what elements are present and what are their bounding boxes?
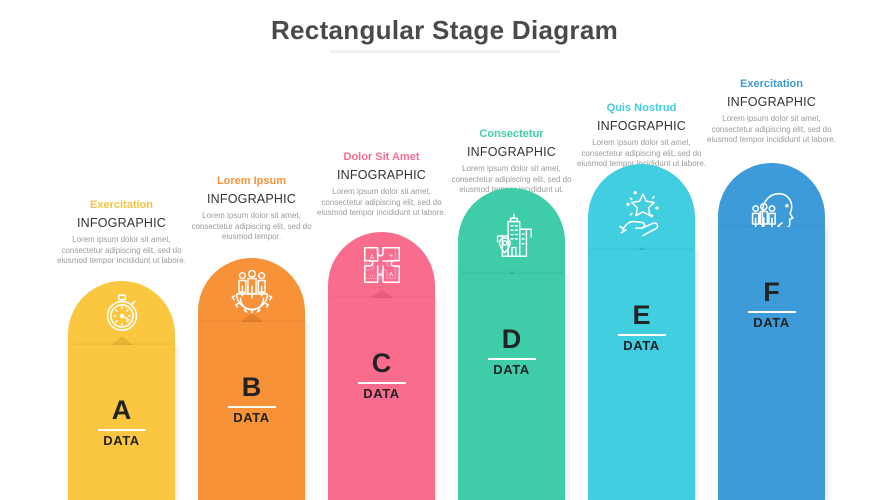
stage-kicker-b: Lorem Ipsum <box>177 174 326 189</box>
svg-text:A: A <box>369 254 374 261</box>
stage-panel-e[interactable]: EDATA <box>588 250 695 500</box>
stage-kicker-d: Consectetur <box>437 127 586 142</box>
stage-panel-f[interactable]: FDATA <box>718 227 825 500</box>
stage-text-block-f: ExercitationINFOGRAPHICLorem ipsum dolor… <box>697 77 846 146</box>
stage-text-block-c: Dolor Sit AmetINFOGRAPHICLorem ipsum dol… <box>307 150 456 219</box>
stage-letter-c: C <box>328 348 435 378</box>
svg-text:+: + <box>388 251 393 260</box>
stage-capsule-notch-c <box>371 289 393 298</box>
stage-letter-d: D <box>458 324 565 354</box>
stage-column-a: ExercitationINFOGRAPHICLorem ipsum dolor… <box>68 0 175 500</box>
stage-text-block-a: ExercitationINFOGRAPHICLorem ipsum dolor… <box>47 198 196 267</box>
stage-body-f: Lorem ipsum dolor sit amet, consectetur … <box>697 114 846 146</box>
svg-text:...: ... <box>369 271 375 278</box>
stage-letter-a: A <box>68 395 175 425</box>
stage-panel-a[interactable]: ADATA <box>68 345 175 500</box>
stage-kicker-a: Exercitation <box>47 198 196 213</box>
stopwatch-icon <box>68 290 175 336</box>
stage-data-label-a: DATA <box>68 433 175 449</box>
stage-panel-rule-b <box>228 406 276 408</box>
stage-panel-c[interactable]: CDATA <box>328 298 435 500</box>
svg-text:A: A <box>388 272 393 279</box>
hand-star-icon <box>588 187 695 237</box>
stage-data-label-b: DATA <box>198 410 305 426</box>
stage-text-block-e: Quis NostrudINFOGRAPHICLorem ipsum dolor… <box>567 101 716 170</box>
stage-subtitle-e: INFOGRAPHIC <box>567 118 716 134</box>
stage-kicker-e: Quis Nostrud <box>567 101 716 116</box>
city-location-icon <box>458 211 565 261</box>
stage-body-b: Lorem ipsum dolor sit amet, consectetur … <box>177 211 326 243</box>
stage-panel-rule-f <box>748 311 796 313</box>
stage-subtitle-a: INFOGRAPHIC <box>47 215 196 231</box>
stage-capsule-notch-a <box>111 336 133 345</box>
stage-panel-rule-e <box>618 334 666 336</box>
stage-data-label-e: DATA <box>588 338 695 354</box>
stage-letter-e: E <box>588 300 695 330</box>
stage-data-label-f: DATA <box>718 315 825 331</box>
stage-panel-b[interactable]: BDATA <box>198 322 305 500</box>
stage-panel-rule-a <box>98 429 146 431</box>
stage-data-label-c: DATA <box>328 386 435 402</box>
stage-panel-d[interactable]: DDATA <box>458 274 565 500</box>
stage-body-c: Lorem ipsum dolor sit amet, consectetur … <box>307 187 456 219</box>
puzzle-icon: A + ... A <box>328 242 435 288</box>
stage-body-a: Lorem ipsum dolor sit amet, consectetur … <box>47 235 196 267</box>
stage-column-f: ExercitationINFOGRAPHICLorem ipsum dolor… <box>718 0 825 500</box>
stage-subtitle-f: INFOGRAPHIC <box>697 94 846 110</box>
stage-letter-b: B <box>198 372 305 402</box>
stage-text-block-b: Lorem IpsumINFOGRAPHICLorem ipsum dolor … <box>177 174 326 243</box>
stage-letter-f: F <box>718 277 825 307</box>
stage-diagram: ExercitationINFOGRAPHICLorem ipsum dolor… <box>0 0 889 500</box>
team-gear-icon <box>198 267 305 317</box>
stage-column-c: Dolor Sit AmetINFOGRAPHICLorem ipsum dol… <box>328 0 435 500</box>
stage-column-e: Quis NostrudINFOGRAPHICLorem ipsum dolor… <box>588 0 695 500</box>
stage-data-label-d: DATA <box>458 362 565 378</box>
stage-capsule-notch-b <box>241 313 263 322</box>
stage-kicker-c: Dolor Sit Amet <box>307 150 456 165</box>
stage-column-d: ConsecteturINFOGRAPHICLorem ipsum dolor … <box>458 0 565 500</box>
stage-panel-rule-c <box>358 382 406 384</box>
stage-subtitle-c: INFOGRAPHIC <box>307 167 456 183</box>
stage-text-block-d: ConsecteturINFOGRAPHICLorem ipsum dolor … <box>437 127 586 196</box>
stage-subtitle-b: INFOGRAPHIC <box>177 191 326 207</box>
stage-kicker-f: Exercitation <box>697 77 846 92</box>
stage-panel-rule-d <box>488 358 536 360</box>
stage-column-b: Lorem IpsumINFOGRAPHICLorem ipsum dolor … <box>198 0 305 500</box>
stage-subtitle-d: INFOGRAPHIC <box>437 144 586 160</box>
